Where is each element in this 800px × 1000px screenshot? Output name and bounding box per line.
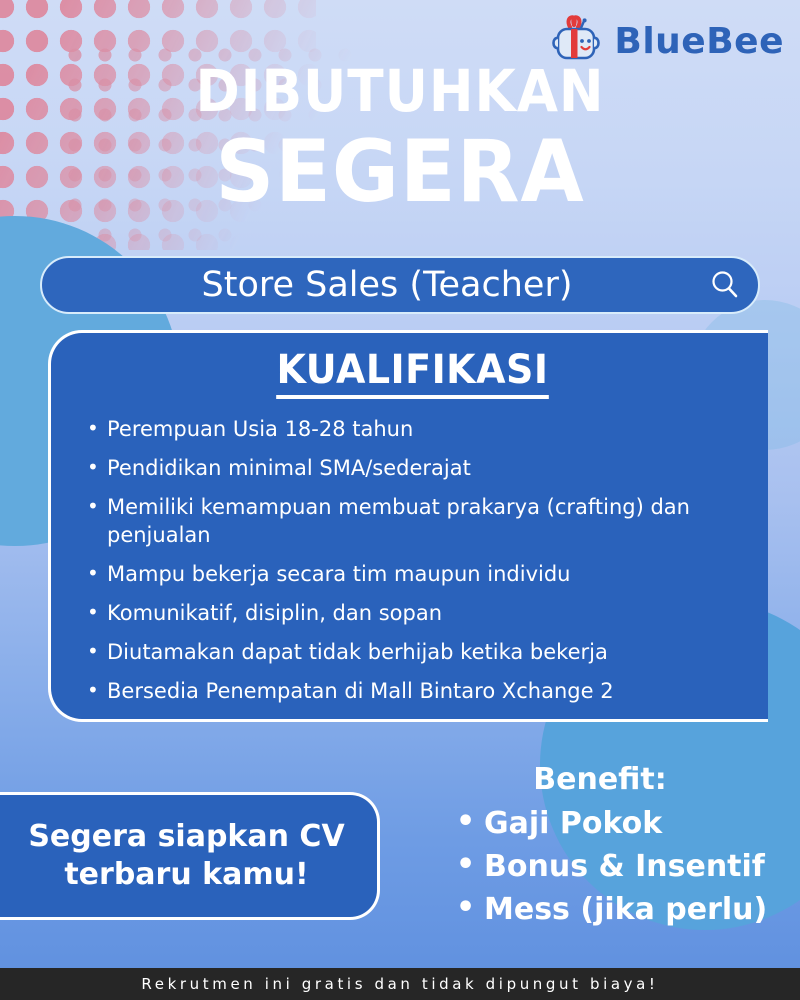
qualifications-title-text: KUALIFIKASI xyxy=(277,347,549,399)
job-title-search-bar[interactable]: Store Sales (Teacher) xyxy=(40,256,760,314)
brand-name: BlueBee xyxy=(614,21,784,62)
list-item: Bonus & Insentif xyxy=(448,845,790,888)
benefits-title: Benefit: xyxy=(410,760,790,800)
benefits-block: Benefit: Gaji Pokok Bonus & Insentif Mes… xyxy=(430,760,790,931)
list-item: Pendidikan minimal SMA/sederajat xyxy=(87,454,748,482)
cta-text: Segera siapkan CV terbaru kamu! xyxy=(0,818,345,894)
cta-line-2: terbaru kamu! xyxy=(64,857,308,892)
list-item: Mess (jika perlu) xyxy=(448,888,790,931)
headline-block: DIBUTUHKAN SEGERA xyxy=(0,62,800,218)
cta-box: Segera siapkan CV terbaru kamu! xyxy=(0,792,380,920)
footer-banner: Rekrutmen ini gratis dan tidak dipungut … xyxy=(0,968,800,1000)
benefits-list: Gaji Pokok Bonus & Insentif Mess (jika p… xyxy=(430,802,790,931)
list-item: Memiliki kemampuan membuat prakarya (cra… xyxy=(87,493,748,549)
list-item: Bersedia Penempatan di Mall Bintaro Xcha… xyxy=(87,677,748,705)
brand-logo: BlueBee xyxy=(548,10,784,73)
footer-text: Rekrutmen ini gratis dan tidak dipungut … xyxy=(141,975,658,993)
list-item: Diutamakan dapat tidak berhijab ketika b… xyxy=(87,638,748,666)
qualifications-panel: KUALIFIKASI Perempuan Usia 18-28 tahun P… xyxy=(48,330,768,722)
list-item: Komunikatif, disiplin, dan sopan xyxy=(87,599,748,627)
list-item: Gaji Pokok xyxy=(448,802,790,845)
headline-secondary: SEGERA xyxy=(20,126,780,218)
search-icon[interactable] xyxy=(692,268,758,302)
qualifications-list: Perempuan Usia 18-28 tahun Pendidikan mi… xyxy=(87,415,748,705)
list-item: Perempuan Usia 18-28 tahun xyxy=(87,415,748,443)
gift-box-mascot-icon xyxy=(548,10,606,73)
qualifications-title: KUALIFIKASI xyxy=(94,347,731,393)
job-poster: BlueBee DIBUTUHKAN SEGERA Store Sales (T… xyxy=(0,0,800,1000)
list-item: Mampu bekerja secara tim maupun individu xyxy=(87,560,748,588)
job-title-value: Store Sales (Teacher) xyxy=(42,265,692,305)
cta-line-1: Segera siapkan CV xyxy=(28,819,344,854)
